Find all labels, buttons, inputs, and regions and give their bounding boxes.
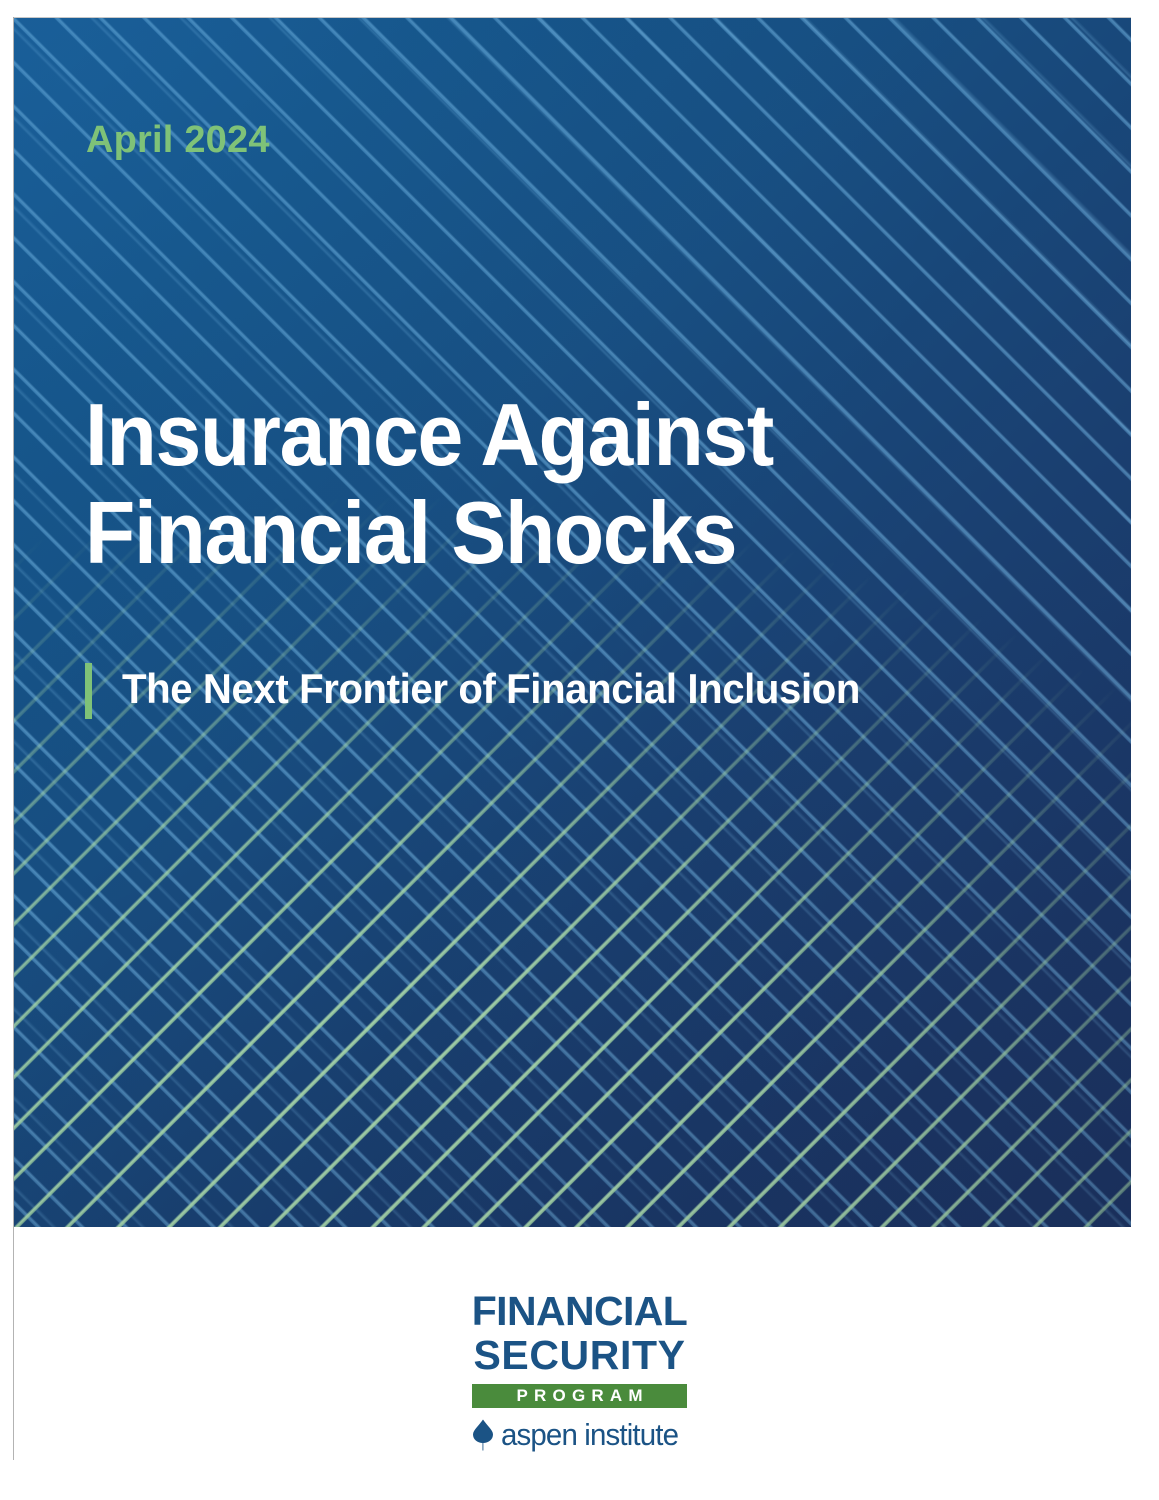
document-page: April 2024 Insurance Against Financial S… (0, 0, 1159, 1500)
organization-logo: FINANCIAL SECURITY PROGRAM aspen institu… (0, 1291, 1159, 1451)
cover-title-line-1: Insurance Against (85, 386, 1020, 484)
hero-vignette-overlay (14, 18, 1131, 1227)
cover-title-line-2: Financial Shocks (85, 484, 1020, 582)
aspen-leaf-icon (472, 1419, 494, 1451)
diagonal-hatch-green-group (14, 18, 1131, 1227)
logo-word-aspen-institute: aspen institute (501, 1419, 678, 1450)
logo-word-security: SECURITY (473, 1335, 685, 1377)
cover-subtitle: The Next Frontier of Financial Inclusion (122, 661, 860, 719)
logo-aspen-lockup: aspen institute (472, 1419, 687, 1451)
diagonal-hatch-blue (14, 18, 1131, 1227)
diagonal-hatch-blue-secondary (14, 18, 1131, 1227)
cover-hero-panel: April 2024 Insurance Against Financial S… (14, 18, 1131, 1227)
cover-subtitle-row: The Next Frontier of Financial Inclusion (85, 661, 895, 719)
diagonal-hatch-green-highlight-group (14, 18, 1131, 1227)
logo-word-financial: FINANCIAL (472, 1291, 688, 1333)
publication-date: April 2024 (86, 120, 270, 162)
subtitle-accent-bar (85, 663, 92, 719)
logo-program-bar: PROGRAM (472, 1384, 687, 1408)
diagonal-hatch-green (14, 18, 1131, 1227)
cover-title: Insurance Against Financial Shocks (85, 386, 1085, 581)
logo-word-program: PROGRAM (510, 1387, 648, 1404)
diagonal-hatch-green-highlight (14, 18, 1131, 1227)
